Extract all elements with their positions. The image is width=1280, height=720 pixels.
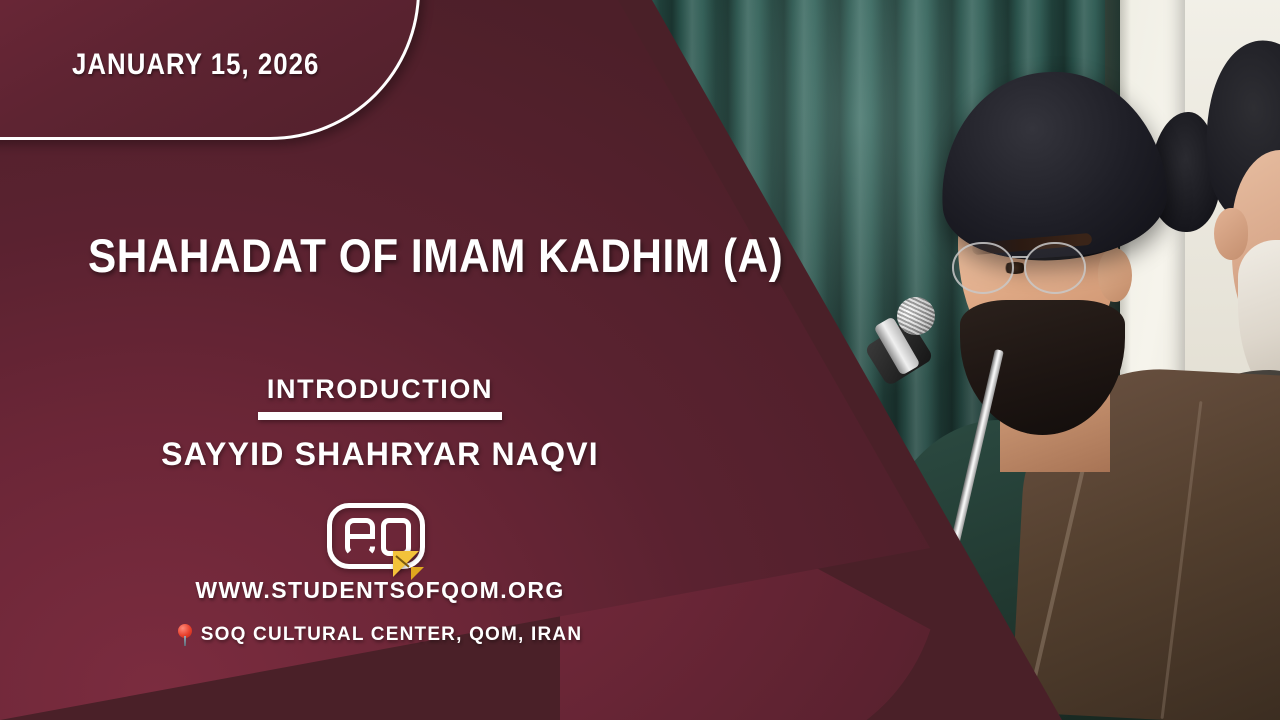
title-divider: [258, 412, 502, 420]
pin-needle: [184, 636, 186, 646]
glasses-bridge: [1012, 256, 1028, 258]
page-title: SHAHADAT OF IMAM KADHIM (A): [88, 228, 664, 283]
logo-letter-s-bar: [345, 534, 375, 539]
speaker-name: SAYYID SHAHRYAR NAQVI: [0, 436, 760, 473]
portrait-ear: [1214, 208, 1248, 260]
speaker-ear: [1098, 248, 1132, 302]
soq-logo: [327, 503, 433, 577]
glasses-lens-left: [952, 242, 1014, 294]
speaker-glasses: [952, 242, 1102, 296]
poster-content: SHAHADAT OF IMAM KADHIM (A) INTRODUCTION…: [0, 0, 820, 720]
event-poster: JANUARY 15, 2026 SHAHADAT OF IMAM KADHIM…: [0, 0, 1280, 720]
venue-label: SOQ CULTURAL CENTER, QOM, IRAN: [201, 624, 583, 646]
glasses-lens-right: [1024, 242, 1086, 294]
location-pin-icon: [178, 624, 192, 646]
venue-line: SOQ CULTURAL CENTER, QOM, IRAN: [0, 624, 760, 646]
website-url: WWW.STUDENTSOFQOM.ORG: [0, 577, 760, 604]
role-label: INTRODUCTION: [0, 374, 760, 405]
